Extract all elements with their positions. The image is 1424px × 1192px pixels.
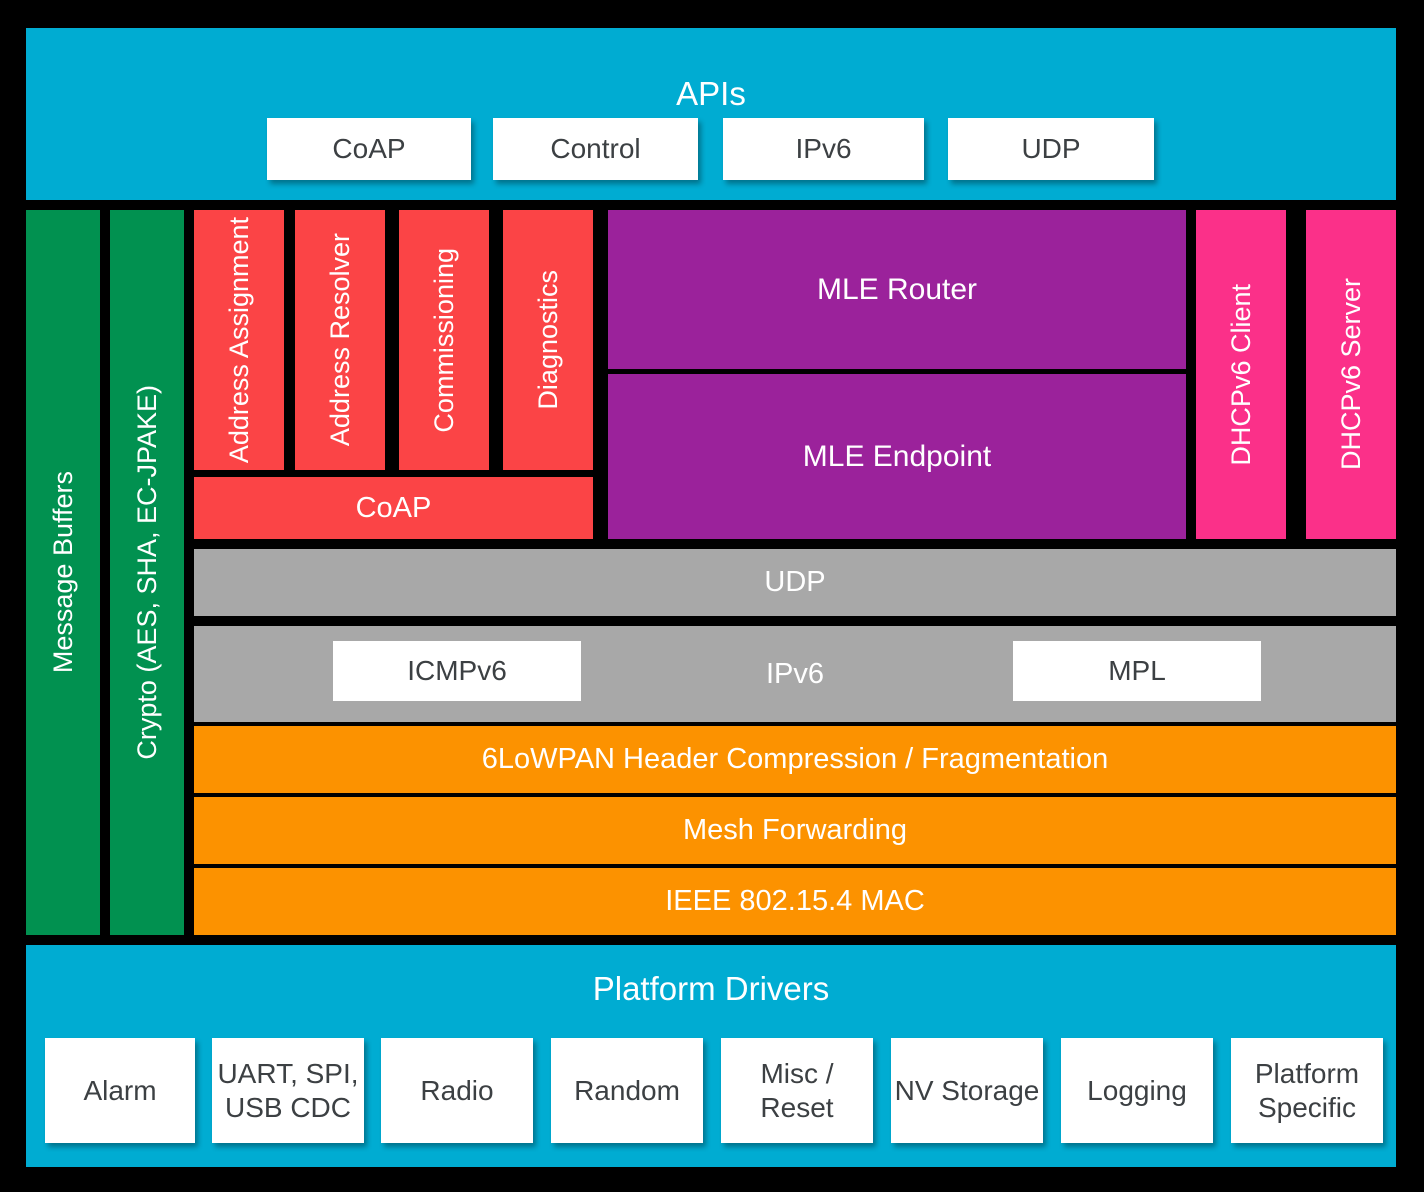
platform-chip-label: NV Storage [895,1074,1040,1107]
thread-services-coap: CoAP [194,477,593,539]
api-section-title: APIs [676,76,746,113]
platform-chip-logging[interactable]: Logging [1061,1038,1213,1143]
platform-chip-radio[interactable]: Radio [381,1038,533,1143]
platform-chip-random[interactable]: Random [551,1038,703,1143]
platform-chip-alarm[interactable]: Alarm [45,1038,195,1143]
platform-chip-label: UART, SPI, USB CDC [212,1057,364,1123]
thread-service-label: Diagnostics [533,270,563,410]
support-column-message-buffers: Message Buffers [26,210,100,935]
platform-chip-misc-reset[interactable]: Misc / Reset [721,1038,873,1143]
ip-chip-icmpv6[interactable]: ICMPv6 [333,641,581,701]
dhcpv6-server-column: DHCPv6 Server [1306,210,1396,539]
api-chip-control[interactable]: Control [493,118,698,180]
support-column-label: Message Buffers [48,471,78,673]
api-chip-coap[interactable]: CoAP [267,118,471,180]
thread-service-diagnostics: Diagnostics [503,210,593,470]
thread-services-coap-label: CoAP [356,492,432,524]
platform-chip-label: Radio [420,1074,493,1107]
thread-service-address-assignment: Address Assignment [194,210,284,470]
transport-layer-label: IPv6 [766,658,824,690]
transport-layer-udp: UDP [194,549,1396,616]
link-layer-ieee-802154-mac: IEEE 802.15.4 MAC [194,868,1396,935]
ip-chip-label: MPL [1108,654,1166,687]
api-section: APIs [26,28,1396,200]
ip-chip-mpl[interactable]: MPL [1013,641,1261,701]
link-layer-mesh-forwarding: Mesh Forwarding [194,797,1396,864]
transport-layer-label: UDP [764,566,825,598]
thread-service-label: Address Assignment [224,217,254,463]
link-layer-label: IEEE 802.15.4 MAC [665,885,925,917]
mle-block-label: MLE Router [817,273,977,307]
thread-service-commissioning: Commissioning [399,210,489,470]
platform-chip-uart-spi-usb-cdc[interactable]: UART, SPI, USB CDC [212,1038,364,1143]
mle-router-block: MLE Router [608,210,1186,369]
mle-block-label: MLE Endpoint [803,440,991,474]
api-chip-label: IPv6 [795,132,851,165]
link-layer-label: Mesh Forwarding [683,814,907,846]
platform-chip-platform-specific[interactable]: Platform Specific [1231,1038,1383,1143]
dhcpv6-client-column: DHCPv6 Client [1196,210,1286,539]
api-chip-label: CoAP [332,132,405,165]
platform-chip-nv-storage[interactable]: NV Storage [891,1038,1043,1143]
link-layer-6lowpan: 6LoWPAN Header Compression / Fragmentati… [194,726,1396,793]
platform-chip-label: Logging [1087,1074,1187,1107]
platform-chip-label: Misc / Reset [721,1057,873,1123]
platform-drivers-title: Platform Drivers [593,971,830,1008]
api-chip-ipv6[interactable]: IPv6 [723,118,924,180]
thread-service-label: Commissioning [429,248,459,433]
dhcpv6-column-label: DHCPv6 Client [1226,284,1256,466]
platform-chip-label: Random [574,1074,680,1107]
ip-chip-label: ICMPv6 [407,654,507,687]
platform-chip-label: Platform Specific [1231,1057,1383,1123]
platform-chip-label: Alarm [83,1074,156,1107]
support-column-crypto: Crypto (AES, SHA, EC-JPAKE) [110,210,184,935]
thread-service-label: Address Resolver [325,233,355,446]
thread-service-address-resolver: Address Resolver [295,210,385,470]
link-layer-label: 6LoWPAN Header Compression / Fragmentati… [482,743,1108,775]
support-column-label: Crypto (AES, SHA, EC-JPAKE) [132,385,162,760]
api-chip-label: Control [550,132,640,165]
mle-endpoint-block: MLE Endpoint [608,374,1186,539]
dhcpv6-column-label: DHCPv6 Server [1336,278,1366,470]
api-chip-udp[interactable]: UDP [948,118,1154,180]
architecture-diagram: APIs CoAP Control IPv6 UDP Message Buffe… [0,0,1424,1192]
api-chip-label: UDP [1021,132,1080,165]
